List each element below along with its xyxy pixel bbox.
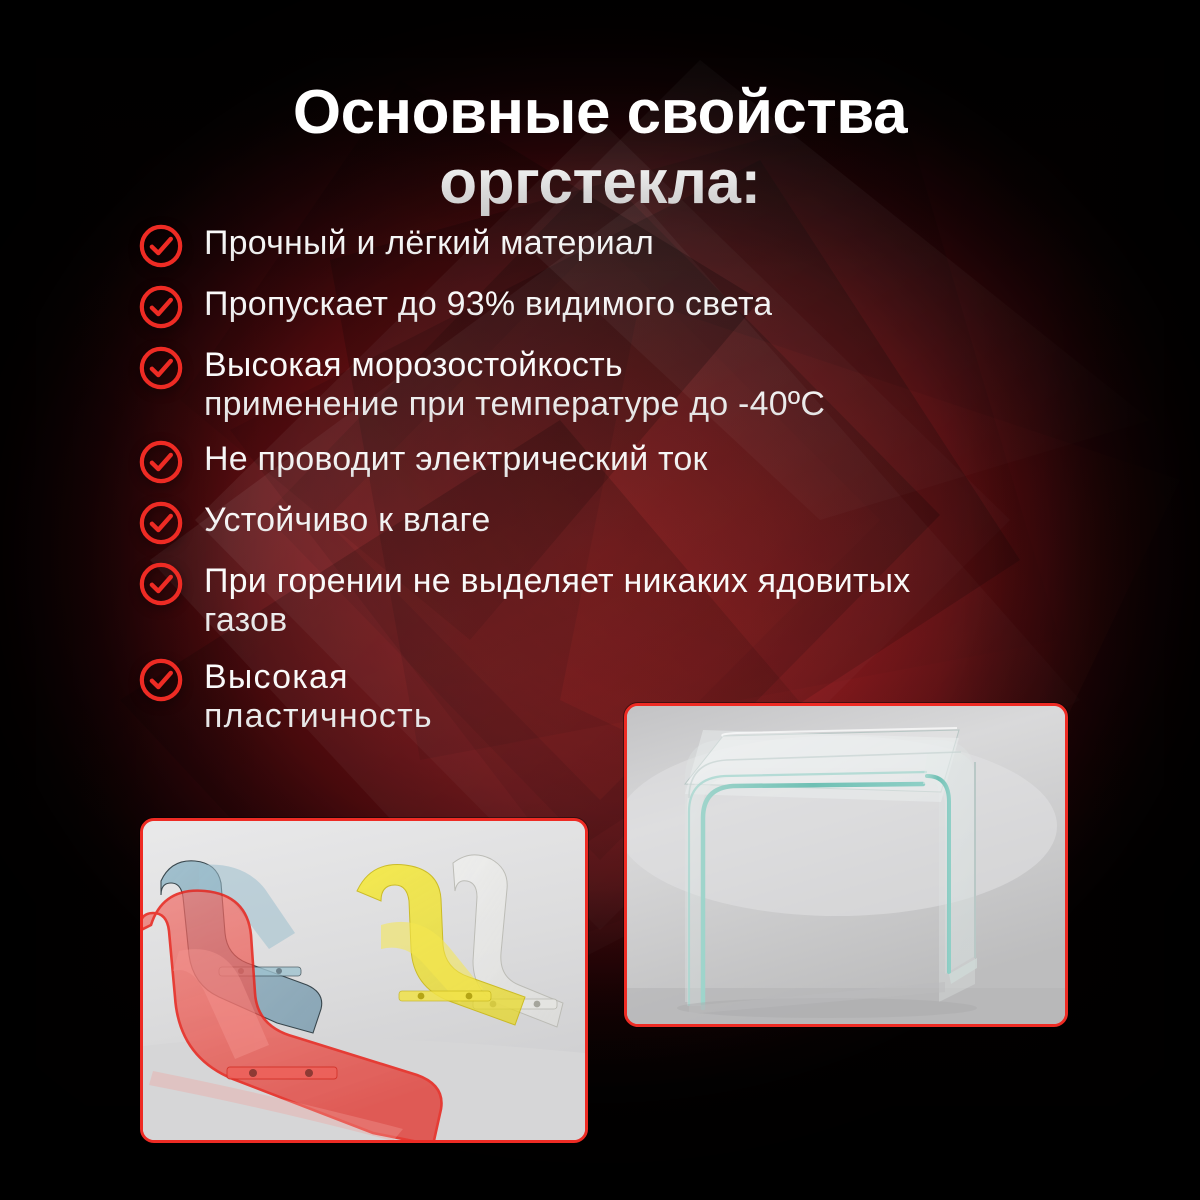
list-item-text: Не проводит электрический ток (204, 438, 708, 479)
list-item-text: Пропускает до 93% видимого света (204, 283, 772, 324)
list-item: Не проводит электрический ток (138, 438, 1148, 485)
list-item-text: Устойчиво к влаге (204, 499, 490, 540)
check-circle-icon (138, 500, 184, 546)
page-title-line-2: оргстекла: (0, 148, 1200, 218)
page-title: Основные свойства оргстекла: (0, 78, 1200, 218)
list-item-line-1: Не проводит электрический ток (204, 440, 708, 478)
check-circle-icon (138, 439, 184, 485)
list-item-line-1: Пропускает до 93% видимого света (204, 285, 772, 323)
list-item-line-1: Устойчиво к влаге (204, 501, 490, 539)
check-circle-icon (138, 284, 184, 330)
list-item-line-1: При горении не выделяет никаких ядовитых (204, 562, 911, 600)
check-circle-icon (138, 223, 184, 269)
acrylic-chairs-photo (140, 818, 588, 1143)
list-item: Пропускает до 93% видимого света (138, 283, 1148, 330)
list-item-line-2: газов (204, 601, 911, 640)
list-item: Устойчиво к влаге (138, 499, 1148, 546)
acrylic-table-photo (624, 703, 1068, 1027)
list-item: Высокая морозостойкость применение при т… (138, 344, 1148, 424)
poster: Основные свойства оргстекла: Прочный и л… (0, 0, 1200, 1200)
list-item: Прочный и лёгкий материал (138, 222, 1148, 269)
check-circle-icon (138, 561, 184, 607)
check-circle-icon (138, 345, 184, 391)
check-circle-icon (138, 657, 184, 703)
list-item-line-2: применение при температуре до -40ºC (204, 385, 825, 424)
page-title-line-1: Основные свойства (0, 78, 1200, 148)
poster-content: Основные свойства оргстекла: Прочный и л… (0, 0, 1200, 1200)
feature-list: Прочный и лёгкий материал Пропускает до … (138, 222, 1148, 751)
list-item-text: При горении не выделяет никаких ядовитых… (204, 560, 911, 640)
list-item-text: Высокая пластичность (204, 656, 433, 736)
list-item-line-1: Высокая морозостойкость (204, 346, 623, 384)
list-item-text: Прочный и лёгкий материал (204, 222, 654, 263)
list-item-text: Высокая морозостойкость применение при т… (204, 344, 825, 424)
list-item-line-2: пластичность (204, 697, 433, 736)
list-item: При горении не выделяет никаких ядовитых… (138, 560, 1148, 640)
list-item-line-1: Высокая (204, 658, 349, 696)
list-item-line-1: Прочный и лёгкий материал (204, 224, 654, 262)
